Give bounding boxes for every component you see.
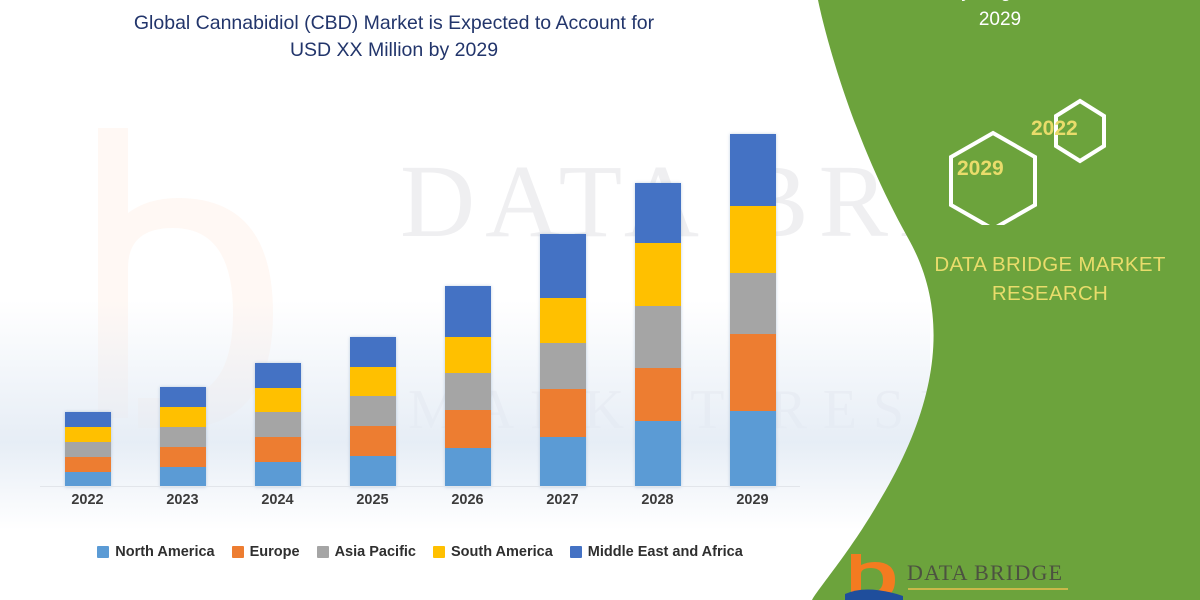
bar-segment-europe [540, 389, 586, 437]
bar-segment-north-america [255, 462, 301, 487]
chart-plot-area [40, 115, 800, 487]
stacked-bar [65, 412, 111, 487]
stacked-bar [160, 387, 206, 487]
bar-segment-north-america [445, 448, 491, 487]
x-axis-label-2022: 2022 [40, 492, 135, 508]
legend-swatch-icon [570, 546, 582, 558]
bar-segment-asia-pacific [350, 396, 396, 426]
hexagon-outline-icon [915, 95, 1115, 225]
legend-item-europe[interactable]: Europe [232, 544, 300, 560]
hexagon-label-2029: 2029 [957, 157, 1004, 181]
chart-legend: North AmericaEuropeAsia PacificSouth Ame… [40, 540, 800, 564]
bar-segment-europe [255, 437, 301, 462]
bar-segment-south-america [160, 407, 206, 427]
bar-segment-middle-east-and-africa [730, 134, 776, 206]
page-title-line-2: USD XX Million by 2029 [84, 37, 704, 64]
page-title-line-1: Global Cannabidiol (CBD) Market is Expec… [84, 10, 704, 37]
x-axis-label-2026: 2026 [420, 492, 515, 508]
bar-segment-europe [65, 457, 111, 472]
legend-label: Asia Pacific [335, 544, 416, 560]
legend-label: Middle East and Africa [588, 544, 743, 560]
legend-item-south-america[interactable]: South America [433, 544, 553, 560]
footer-logo-text: DATA BRIDGE [907, 560, 1063, 586]
bar-segment-middle-east-and-africa [65, 412, 111, 427]
legend-swatch-icon [317, 546, 329, 558]
bar-segment-south-america [445, 337, 491, 373]
bar-column-2027 [515, 115, 610, 487]
bar-segment-north-america [540, 437, 586, 487]
brand-panel-title: Market, By Regions, 2022 to 2029 [820, 0, 1180, 34]
stacked-bar-chart [40, 115, 800, 487]
x-axis-label-2024: 2024 [230, 492, 325, 508]
stacked-bar [730, 134, 776, 487]
legend-swatch-icon [433, 546, 445, 558]
footer-logo-rule [908, 588, 1068, 590]
bar-column-2025 [325, 115, 420, 487]
bar-segment-north-america [635, 421, 681, 487]
bar-segment-north-america [160, 467, 206, 487]
stacked-bar [635, 183, 681, 487]
bar-segment-middle-east-and-africa [255, 363, 301, 388]
legend-item-north-america[interactable]: North America [97, 544, 214, 560]
page-title: Global Cannabidiol (CBD) Market is Expec… [84, 10, 704, 64]
bar-segment-asia-pacific [730, 273, 776, 334]
brand-panel-title-line-2: 2029 [820, 6, 1180, 34]
bar-segment-middle-east-and-africa [160, 387, 206, 407]
footer-brand-glyph-icon [845, 552, 905, 600]
bar-segment-asia-pacific [65, 442, 111, 457]
infographic-canvas: DATA BRIDGE MARKET RESEARCH Global Canna… [0, 0, 1200, 600]
x-axis-label-2023: 2023 [135, 492, 230, 508]
legend-label: South America [451, 544, 553, 560]
brand-name: DATA BRIDGE MARKET RESEARCH [905, 250, 1195, 308]
bar-segment-europe [445, 410, 491, 448]
bar-column-2028 [610, 115, 705, 487]
legend-item-asia-pacific[interactable]: Asia Pacific [317, 544, 416, 560]
stacked-bar [255, 363, 301, 487]
x-axis-label-2027: 2027 [515, 492, 610, 508]
legend-swatch-icon [232, 546, 244, 558]
bar-segment-south-america [65, 427, 111, 442]
brand-name-line-1: DATA BRIDGE MARKET [905, 250, 1195, 279]
legend-label: North America [115, 544, 214, 560]
bar-segment-europe [160, 447, 206, 467]
bar-segment-asia-pacific [540, 343, 586, 389]
bar-segment-asia-pacific [160, 427, 206, 447]
legend-label: Europe [250, 544, 300, 560]
bar-column-2024 [230, 115, 325, 487]
bar-segment-europe [635, 368, 681, 421]
bar-segment-south-america [730, 206, 776, 273]
brand-name-line-2: RESEARCH [905, 279, 1195, 308]
bar-segment-south-america [255, 388, 301, 412]
bar-segment-south-america [350, 367, 396, 396]
bar-segment-middle-east-and-africa [445, 286, 491, 337]
bar-segment-middle-east-and-africa [635, 183, 681, 243]
bar-segment-europe [730, 334, 776, 411]
stacked-bar [540, 234, 586, 487]
legend-swatch-icon [97, 546, 109, 558]
bar-segment-north-america [65, 472, 111, 487]
bar-column-2026 [420, 115, 515, 487]
bar-segment-asia-pacific [445, 373, 491, 410]
stacked-bar [350, 337, 396, 487]
bar-segment-north-america [350, 456, 396, 487]
bar-segment-asia-pacific [255, 412, 301, 437]
x-axis-label-2025: 2025 [325, 492, 420, 508]
legend-item-middle-east-and-africa[interactable]: Middle East and Africa [570, 544, 743, 560]
bar-column-2023 [135, 115, 230, 487]
bar-segment-middle-east-and-africa [540, 234, 586, 298]
bar-segment-asia-pacific [635, 306, 681, 368]
hexagon-badges: 2029 2022 [915, 95, 1115, 225]
footer-logo: DATA BRIDGE [845, 552, 1175, 600]
bar-column-2022 [40, 115, 135, 487]
bar-segment-middle-east-and-africa [350, 337, 396, 367]
hexagon-label-2022: 2022 [1031, 117, 1078, 141]
bar-segment-north-america [730, 411, 776, 487]
bar-segment-south-america [540, 298, 586, 343]
x-axis-label-2028: 2028 [610, 492, 705, 508]
bar-segment-south-america [635, 243, 681, 306]
bar-segment-europe [350, 426, 396, 456]
x-axis-labels: 20222023202420252026202720282029 [40, 492, 800, 518]
x-axis-line [40, 486, 800, 487]
stacked-bar [445, 286, 491, 487]
